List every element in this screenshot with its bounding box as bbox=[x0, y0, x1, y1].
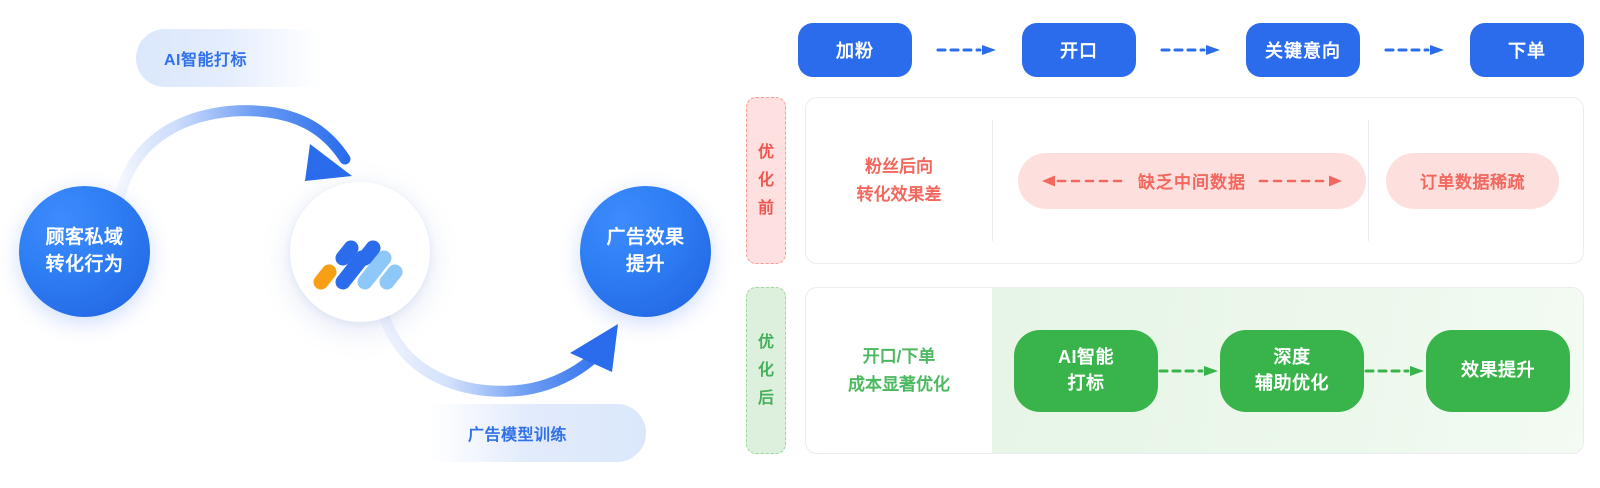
end-node-line-2: 提升 bbox=[626, 252, 665, 278]
before-tab-char-2: 化 bbox=[758, 167, 774, 195]
after-node-1-line-1: AI智能 bbox=[1058, 345, 1114, 371]
after-node-2-line-2: 辅助优化 bbox=[1255, 371, 1329, 397]
dashed-arrow-right-icon bbox=[1160, 44, 1222, 56]
after-node-1-line-2: 打标 bbox=[1068, 371, 1105, 397]
curved-arrow-return-icon bbox=[380, 300, 618, 391]
funnel-node-2-label: 开口 bbox=[1060, 37, 1098, 63]
start-node-line-2: 转化行为 bbox=[45, 252, 123, 278]
start-node: 顾客私域 转化行为 bbox=[19, 186, 150, 317]
after-connector-1 bbox=[1158, 365, 1220, 377]
after-node-1[interactable]: AI智能 打标 bbox=[1014, 330, 1158, 412]
missing-data-pill-label: 缺乏中间数据 bbox=[1126, 168, 1258, 193]
funnel-connector-2 bbox=[1136, 44, 1246, 56]
after-tab-char-2: 化 bbox=[758, 357, 774, 385]
badge-ai-tagging-label: AI智能打标 bbox=[164, 46, 247, 70]
before-caption-line-1: 粉丝后向 bbox=[865, 153, 933, 180]
after-optimization-tab: 优 化 后 bbox=[746, 287, 786, 454]
start-node-line-1: 顾客私域 bbox=[45, 225, 123, 251]
before-optimization-row: 优 化 前 粉丝后向 转化效果差 缺乏中间数据 bbox=[740, 97, 1600, 264]
before-card-body: 缺乏中间数据 订单数据稀疏 bbox=[992, 98, 1583, 263]
before-divider-right bbox=[1368, 120, 1369, 241]
before-optimization-tab: 优 化 前 bbox=[746, 97, 786, 264]
before-divider-left bbox=[992, 120, 993, 241]
after-caption: 开口/下单 成本显著优化 bbox=[806, 288, 992, 453]
badge-model-training: 广告模型训练 bbox=[430, 404, 646, 462]
after-node-2-line-1: 深度 bbox=[1274, 345, 1311, 371]
funnel-node-1[interactable]: 加粉 bbox=[798, 23, 912, 77]
dashed-arrow-right-icon bbox=[1384, 44, 1446, 56]
brand-logo-medallion bbox=[290, 182, 430, 322]
funnel-node-2[interactable]: 开口 bbox=[1022, 23, 1136, 77]
after-tab-char-3: 后 bbox=[758, 385, 774, 413]
after-connector-2 bbox=[1364, 365, 1426, 377]
after-card-body: AI智能 打标 深度 辅助优化 bbox=[992, 288, 1583, 453]
after-node-chain: AI智能 打标 深度 辅助优化 bbox=[1014, 330, 1561, 412]
before-tab-char-3: 前 bbox=[758, 195, 774, 223]
funnel-connector-1 bbox=[912, 44, 1022, 56]
before-caption: 粉丝后向 转化效果差 bbox=[806, 98, 992, 263]
after-caption-line-2: 成本显著优化 bbox=[848, 371, 950, 398]
after-tab-char-1: 优 bbox=[758, 329, 774, 357]
diagram-canvas: AI智能打标 广告模型训练 顾客私域 转化行为 广告效果 提升 bbox=[0, 0, 1600, 488]
sparse-order-data-label: 订单数据稀疏 bbox=[1420, 168, 1525, 193]
after-caption-line-1: 开口/下单 bbox=[863, 343, 936, 370]
end-node: 广告效果 提升 bbox=[580, 186, 711, 317]
before-optimization-card: 粉丝后向 转化效果差 缺乏中间数据 bbox=[805, 97, 1584, 264]
funnel-connector-3 bbox=[1360, 44, 1470, 56]
funnel-node-3-label: 关键意向 bbox=[1265, 37, 1341, 63]
dashed-arrow-right-icon bbox=[1158, 365, 1220, 377]
after-optimization-card: 开口/下单 成本显著优化 AI智能 打标 bbox=[805, 287, 1584, 454]
after-node-3-line-1: 效果提升 bbox=[1461, 358, 1535, 384]
before-tab-char-1: 优 bbox=[758, 139, 774, 167]
funnel-node-4-label: 下单 bbox=[1508, 37, 1546, 63]
before-caption-line-2: 转化效果差 bbox=[857, 181, 942, 208]
funnel-node-1-label: 加粉 bbox=[836, 37, 874, 63]
dashed-arrow-right-icon bbox=[1258, 174, 1344, 188]
badge-ai-tagging: AI智能打标 bbox=[136, 29, 320, 87]
dashed-arrow-right-icon bbox=[1364, 365, 1426, 377]
sparse-order-data-pill: 订单数据稀疏 bbox=[1386, 153, 1559, 209]
after-node-3[interactable]: 效果提升 bbox=[1426, 330, 1570, 412]
end-node-line-1: 广告效果 bbox=[606, 225, 684, 251]
badge-model-training-label: 广告模型训练 bbox=[468, 421, 567, 445]
funnel-flow: 加粉 开口 关键意向 bbox=[798, 22, 1584, 78]
funnel-comparison-panel: 加粉 开口 关键意向 bbox=[740, 0, 1600, 488]
missing-data-pill: 缺乏中间数据 bbox=[1018, 153, 1366, 209]
brand-logo-icon bbox=[312, 212, 408, 292]
funnel-node-3[interactable]: 关键意向 bbox=[1246, 23, 1360, 77]
funnel-node-4[interactable]: 下单 bbox=[1470, 23, 1584, 77]
after-optimization-row: 优 化 后 开口/下单 成本显著优化 AI智能 打标 bbox=[740, 287, 1600, 454]
after-node-2[interactable]: 深度 辅助优化 bbox=[1220, 330, 1364, 412]
dashed-arrow-right-icon bbox=[936, 44, 998, 56]
loop-diagram-panel: AI智能打标 广告模型训练 顾客私域 转化行为 广告效果 提升 bbox=[0, 0, 740, 488]
curved-arrow-forward-icon bbox=[118, 111, 352, 205]
dashed-arrow-left-icon bbox=[1040, 174, 1126, 188]
